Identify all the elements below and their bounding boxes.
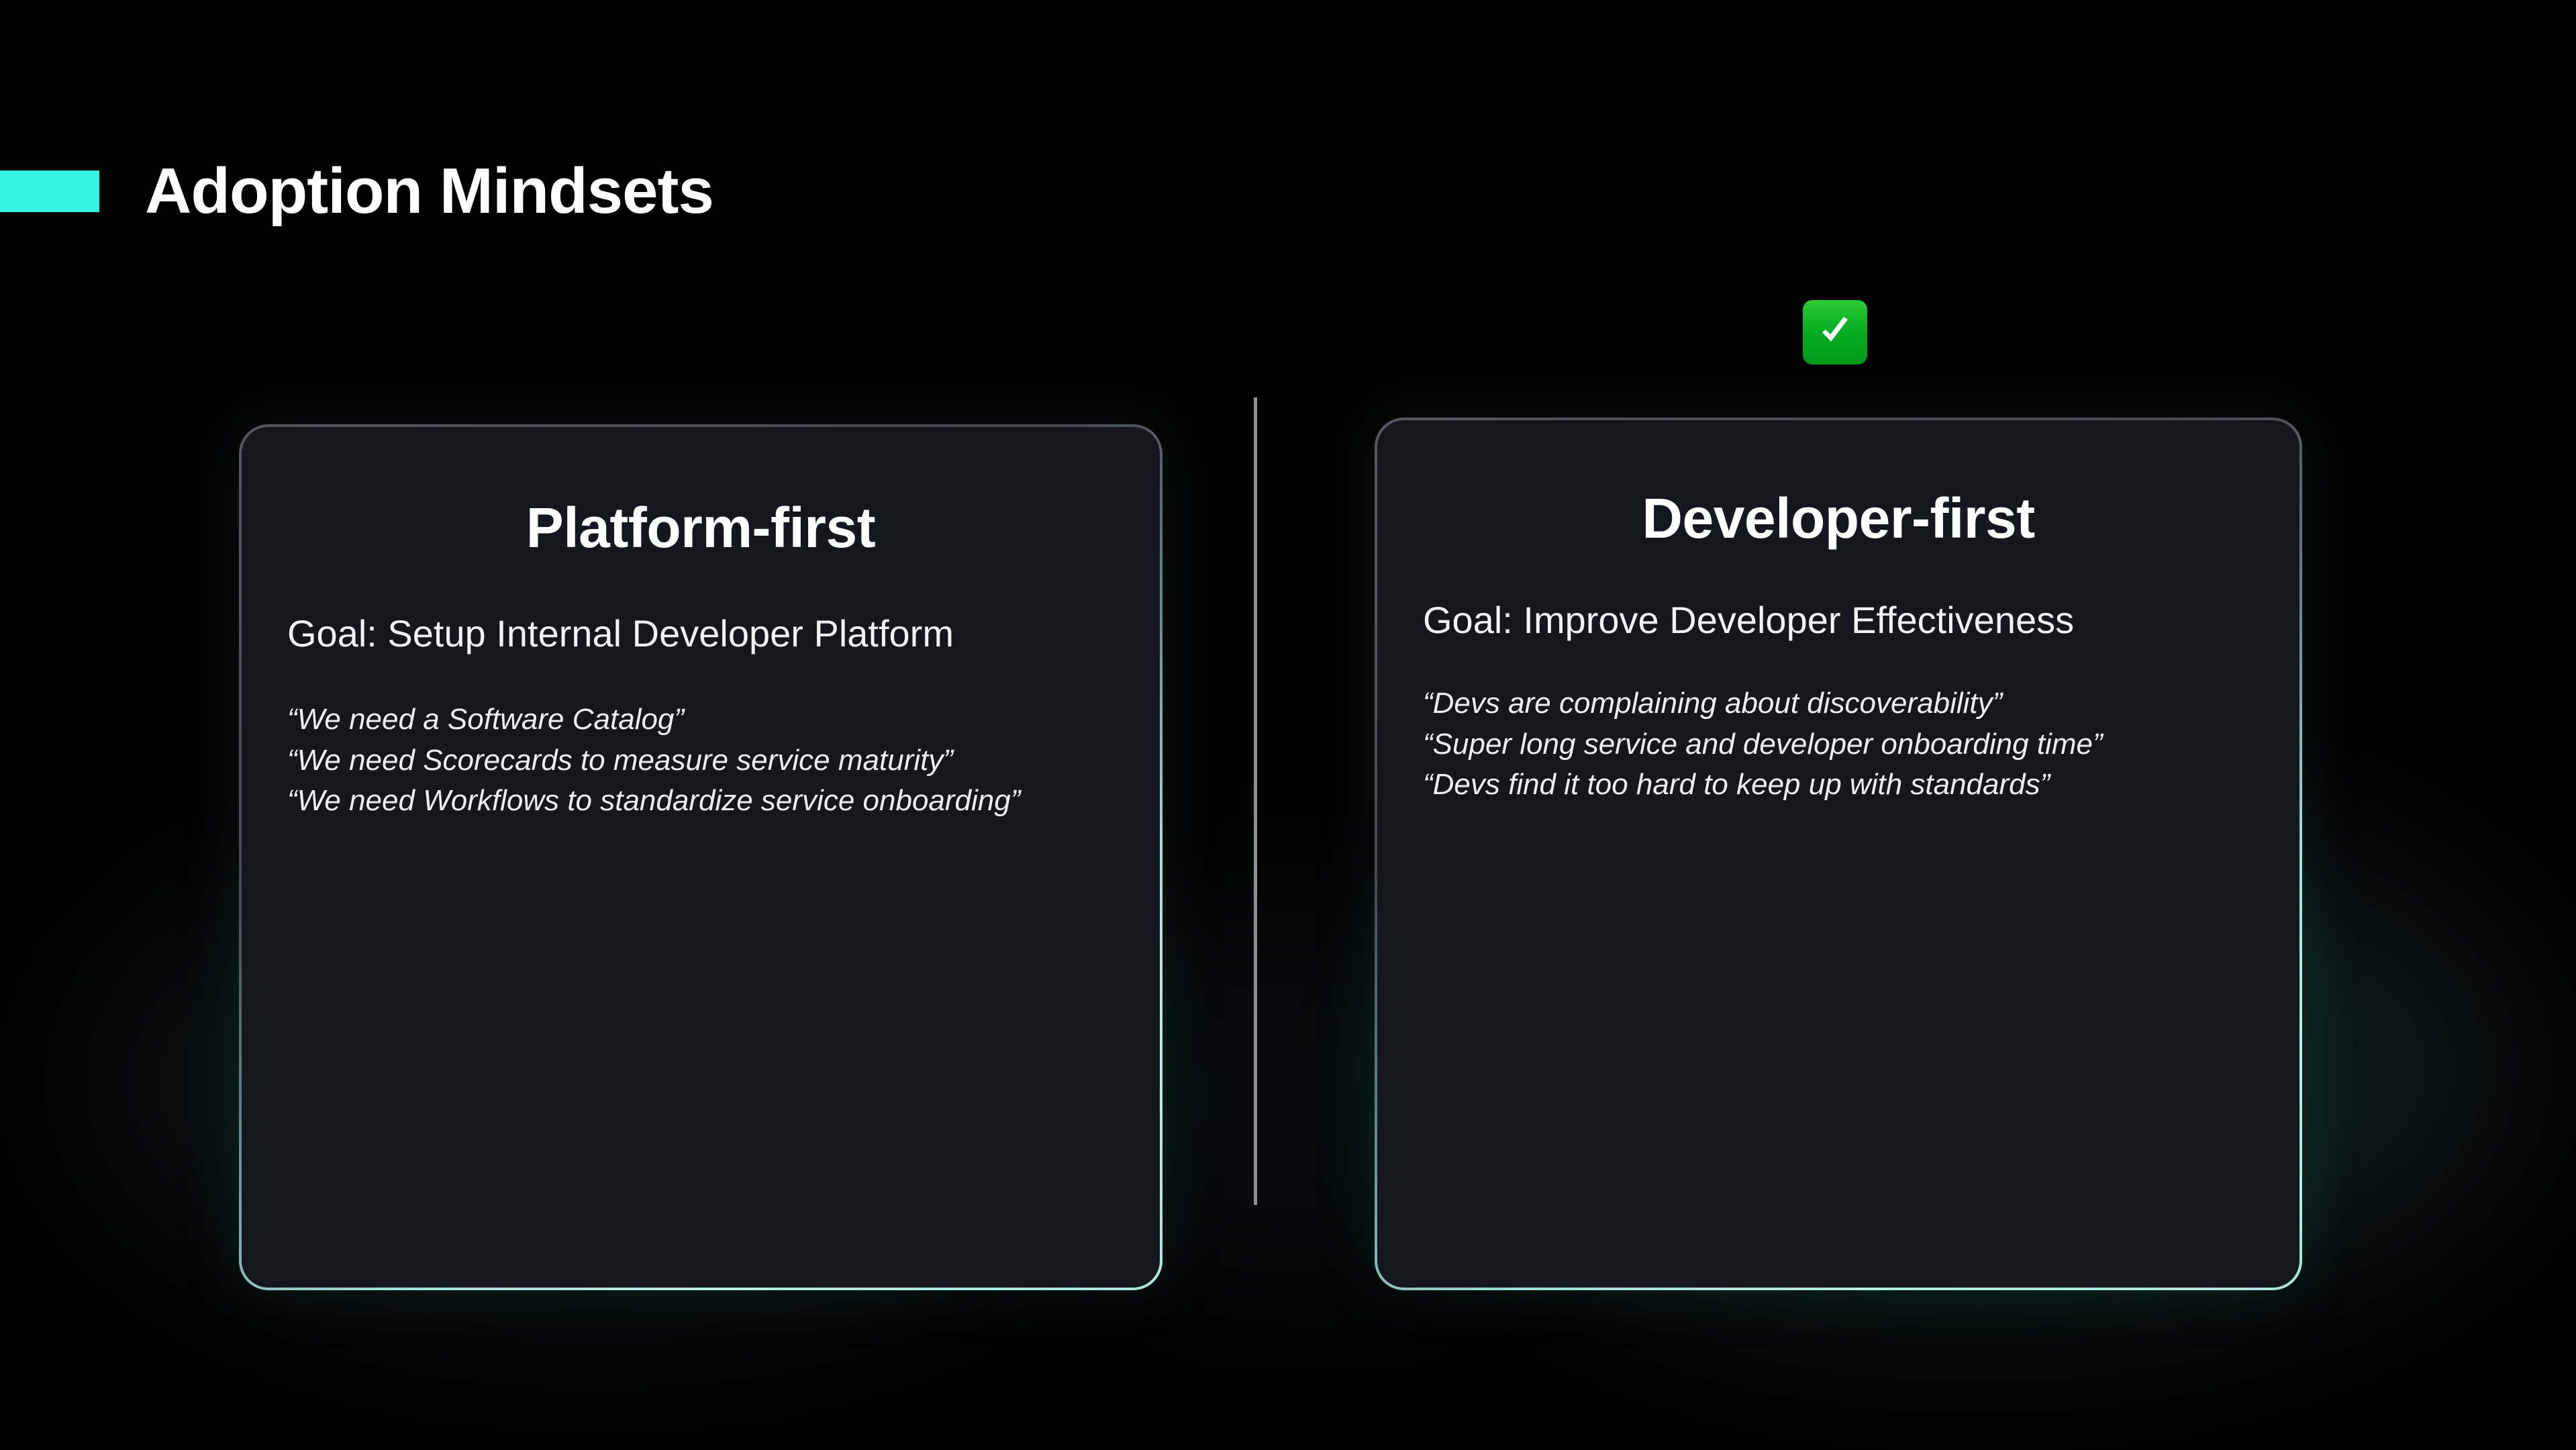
card-quote: “We need a Software Catalog” [287, 699, 1114, 740]
page-title: Adoption Mindsets [145, 159, 713, 224]
mindset-card-platform-first[interactable]: Platform-first Goal: Setup Internal Deve… [239, 424, 1162, 1290]
card-title: Developer-first [1423, 489, 2254, 548]
mindset-card-developer-first[interactable]: Developer-first Goal: Improve Developer … [1375, 418, 2302, 1290]
card-quote: “We need Workflows to standardize servic… [287, 781, 1114, 822]
card-quote: “Super long service and developer onboar… [1423, 724, 2254, 765]
card-goal: Goal: Improve Developer Effectiveness [1423, 596, 2254, 644]
vertical-divider [1254, 397, 1257, 1205]
card-quote: “We need Scorecards to measure service m… [287, 740, 1114, 781]
card-title: Platform-first [287, 498, 1114, 557]
card-quote-list: “We need a Software Catalog” “We need Sc… [287, 699, 1114, 822]
slide-canvas: Adoption Mindsets Platform-first Goal: S… [0, 0, 2576, 1450]
card-quote-list: “Devs are complaining about discoverabil… [1423, 683, 2254, 806]
check-mark-icon [1803, 300, 1867, 365]
accent-bar [0, 171, 99, 212]
card-goal: Goal: Setup Internal Developer Platform [287, 610, 1114, 658]
card-quote: “Devs find it too hard to keep up with s… [1423, 765, 2254, 806]
card-quote: “Devs are complaining about discoverabil… [1423, 683, 2254, 724]
slide-header: Adoption Mindsets [0, 151, 713, 232]
